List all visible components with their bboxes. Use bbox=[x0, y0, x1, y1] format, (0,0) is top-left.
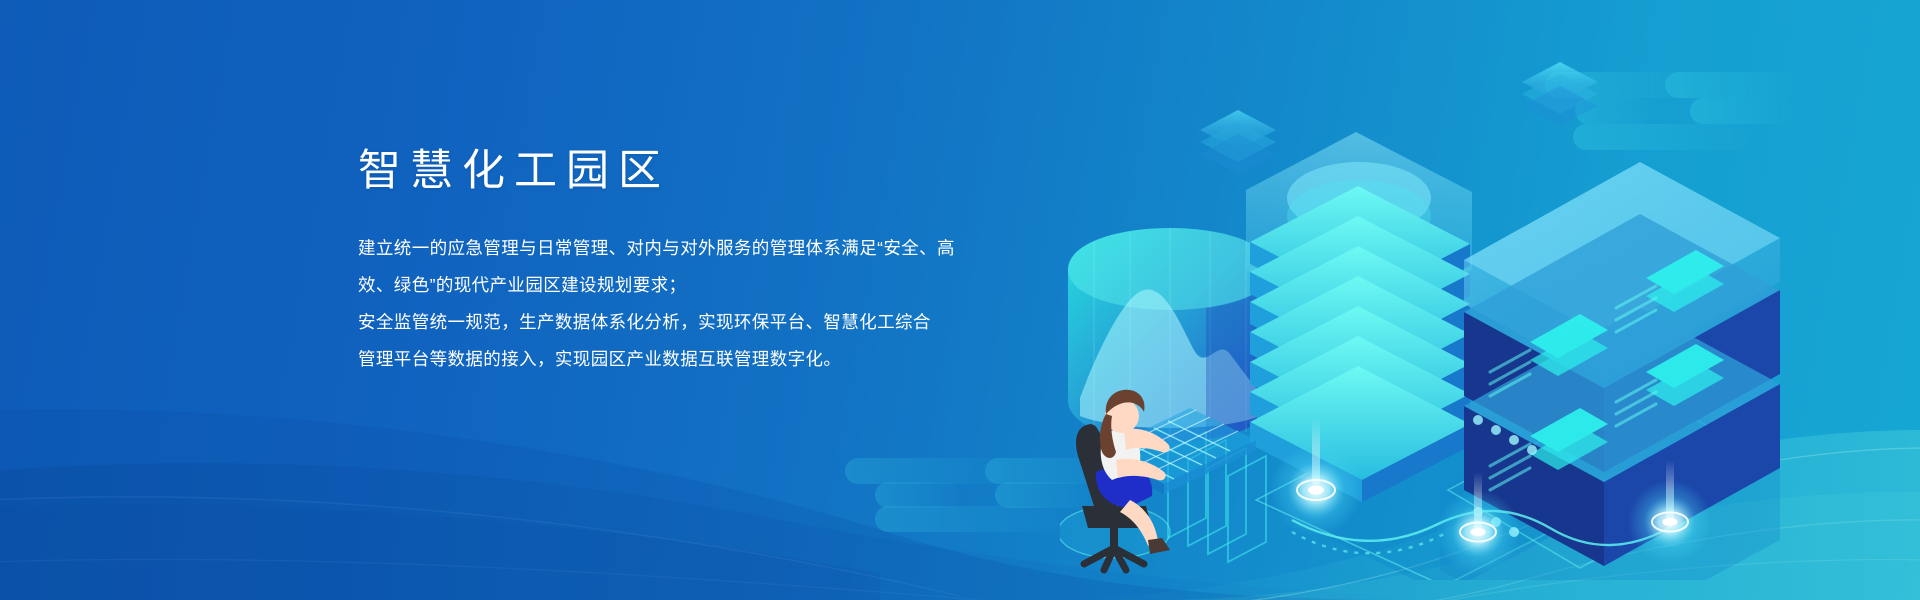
description-line: 安全监管统一规范，生产数据体系化分析，实现环保平台、智慧化工综合 bbox=[358, 304, 1098, 341]
stacked-data-tower bbox=[1246, 132, 1472, 502]
description-line: 建立统一的应急管理与日常管理、对内与对外服务的管理体系满足“安全、高 bbox=[358, 230, 1098, 267]
floating-cube-icon bbox=[1200, 110, 1276, 174]
description-line: 管理平台等数据的接入，实现园区产业数据互联管理数字化。 bbox=[358, 341, 1098, 378]
page-title: 智慧化工园区 bbox=[358, 148, 1098, 194]
hero-banner: 智慧化工园区 建立统一的应急管理与日常管理、对内与对外服务的管理体系满足“安全、… bbox=[0, 0, 1920, 600]
hero-copy: 智慧化工园区 建立统一的应急管理与日常管理、对内与对外服务的管理体系满足“安全、… bbox=[358, 148, 1098, 378]
description-line: 效、绿色”的现代产业园区建设规划要求； bbox=[358, 267, 1098, 304]
data-rain-lines bbox=[1278, 20, 1366, 138]
illustration-smart-park bbox=[1060, 20, 1780, 580]
hero-description: 建立统一的应急管理与日常管理、对内与对外服务的管理体系满足“安全、高 效、绿色”… bbox=[358, 230, 1098, 378]
curved-chart-panel bbox=[1068, 228, 1272, 442]
